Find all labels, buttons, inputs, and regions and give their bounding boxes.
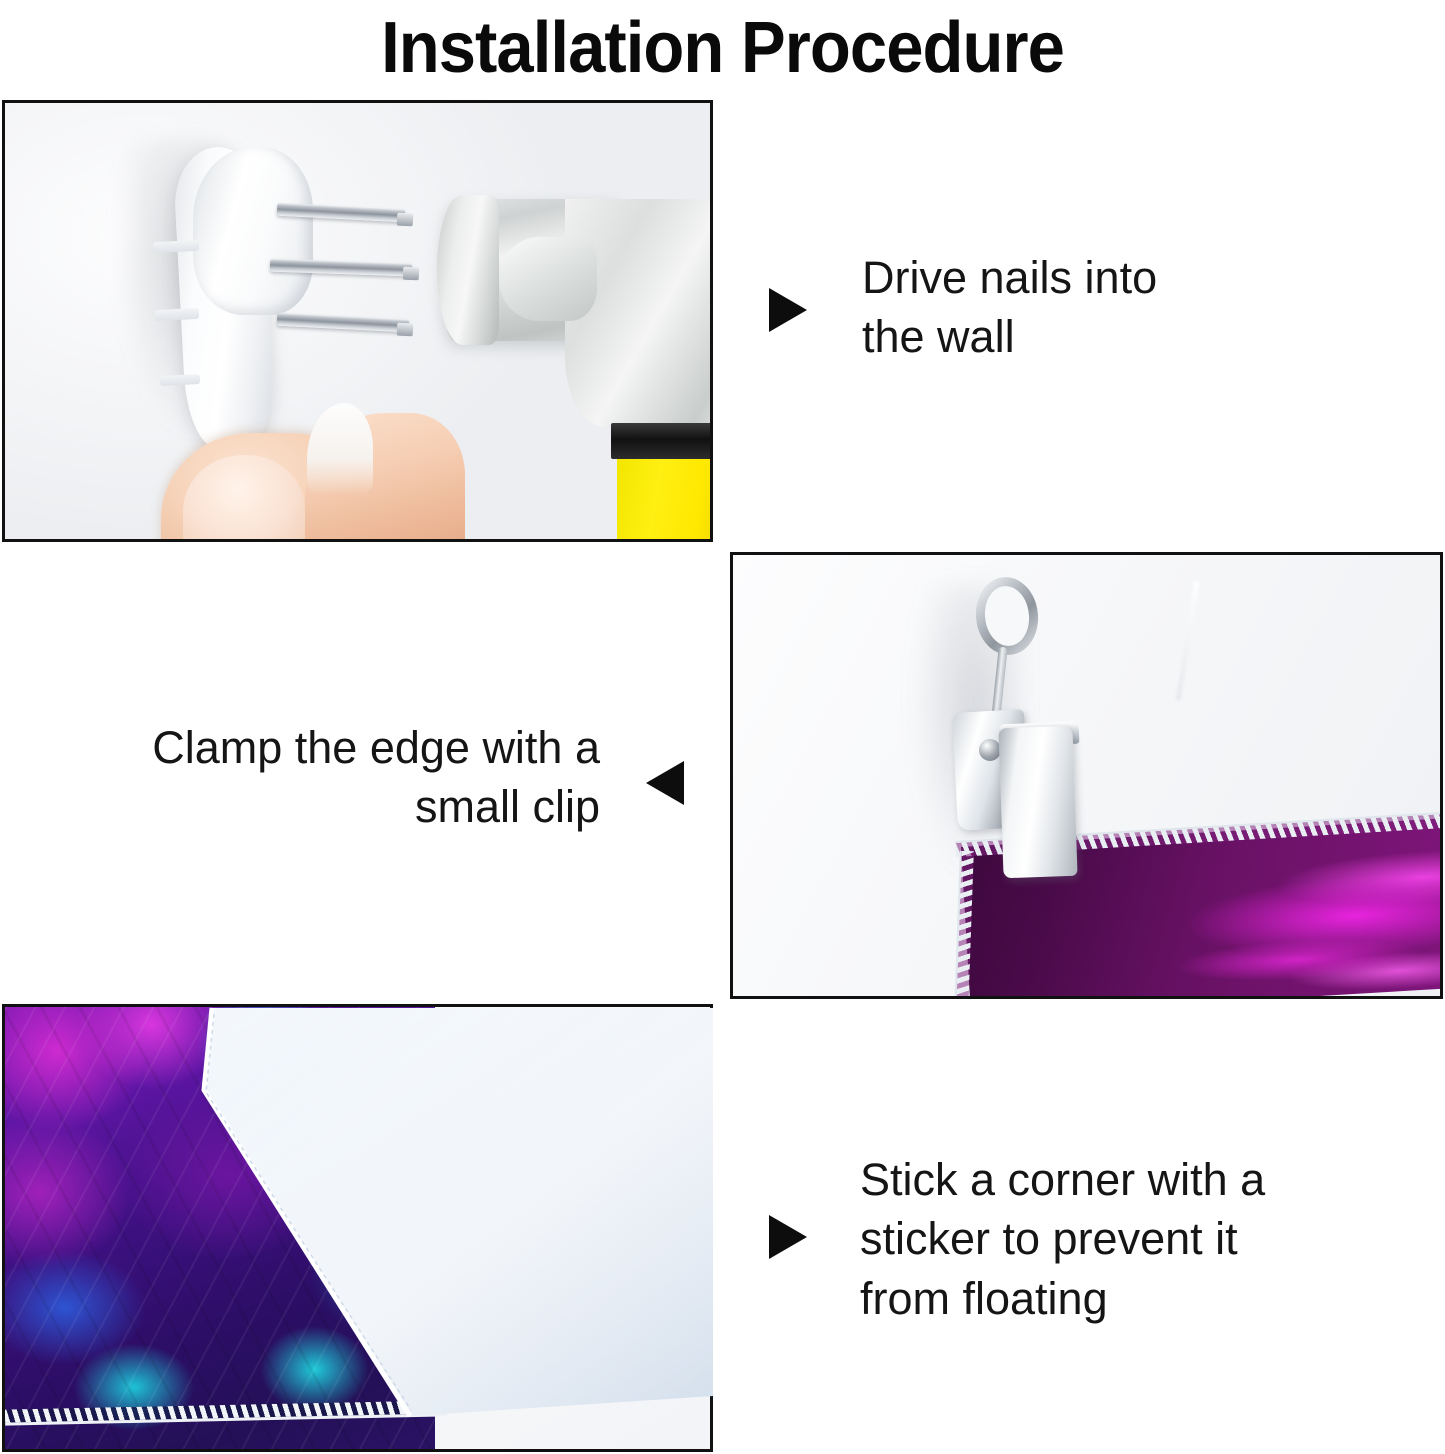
- hammer-cheek: [499, 237, 597, 321]
- nail-tip: [397, 213, 414, 227]
- step-1-photo: [5, 103, 710, 539]
- artwork-swirl-texture: [5, 1007, 435, 1449]
- nail-tip: [403, 267, 419, 281]
- white-hook-head: [193, 147, 313, 315]
- step-3-caption: Stick a corner with a sticker to prevent…: [860, 1150, 1330, 1328]
- nail-tip: [397, 323, 414, 337]
- hammer-yellow-handle: [617, 459, 710, 539]
- triangle-right-icon: [769, 1215, 807, 1259]
- step-3-photo: [5, 1007, 710, 1449]
- page-title: Installation Procedure: [51, 0, 1395, 96]
- triangle-left-icon: [646, 761, 684, 805]
- step-1-caption: Drive nails into the wall: [862, 248, 1282, 367]
- hook-tab: [155, 308, 200, 321]
- hammer-striking-face: [437, 195, 499, 345]
- step-1-photo-panel: [2, 100, 713, 542]
- step-2-photo: [733, 555, 1440, 996]
- triangle-right-icon: [769, 288, 807, 332]
- clip-jaw: [998, 726, 1077, 878]
- step-2-caption: Clamp the edge with a small clip: [60, 718, 600, 837]
- step-2-photo-panel: [730, 552, 1443, 999]
- hammer-black-band: [611, 423, 710, 459]
- hook-tab: [160, 374, 200, 386]
- round-clear-sticker: [489, 1214, 563, 1296]
- clip-pivot: [979, 739, 1001, 761]
- step-3-photo-panel: [2, 1004, 713, 1452]
- purple-blue-cyan-artwork: [5, 1007, 435, 1449]
